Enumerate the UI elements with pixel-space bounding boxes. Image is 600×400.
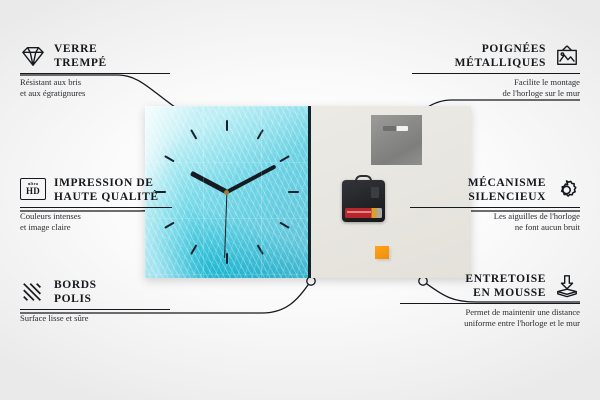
feature-desc: Les aiguilles de l'horloge ne font aucun… (410, 211, 580, 234)
feature-rule (20, 207, 172, 208)
clock-tick (164, 155, 227, 193)
infographic-canvas: VERRE TREMPÉ Résistant aux bris et aux é… (0, 0, 600, 400)
press-foam-icon (554, 274, 580, 298)
feature-title: ENTRETOISE EN MOUSSE (465, 272, 546, 300)
feature-verre-trempe: VERRE TREMPÉ Résistant aux bris et aux é… (20, 42, 170, 100)
feature-title: BORDS POLIS (54, 278, 97, 306)
feature-desc: Couleurs intenses et image claire (20, 211, 172, 234)
picture-frame-icon (554, 44, 580, 68)
foam-spacer (375, 246, 389, 259)
clock-second-hand (224, 192, 228, 258)
feature-title: POIGNÉES MÉTALLIQUES (455, 42, 546, 70)
mechanism-hook (355, 175, 372, 183)
hanger-slot (383, 126, 408, 131)
leader-dot-bords-polis (307, 277, 315, 285)
clock-tick (226, 155, 289, 193)
aa-battery (345, 208, 382, 218)
feature-rule (412, 73, 580, 74)
feature-rule (400, 303, 580, 304)
clock-tick (227, 191, 299, 193)
feature-rule (20, 309, 170, 310)
clock-tick (190, 129, 228, 192)
feature-poignees-metalliques: POIGNÉES MÉTALLIQUES Facilite le montage… (412, 42, 580, 100)
feature-rule (410, 207, 580, 208)
feature-desc: Facilite le montage de l'horloge sur le … (412, 77, 580, 100)
ultra-hd-icon-bottom: HD (26, 187, 40, 196)
clock-hour-hand (190, 171, 227, 194)
feature-title: VERRE TREMPÉ (54, 42, 107, 70)
polished-edge-icon (20, 280, 46, 304)
feature-desc: Résistant aux bris et aux égratignures (20, 77, 170, 100)
feature-rule (20, 73, 170, 74)
clock-center-pin (224, 190, 229, 195)
clock-tick (226, 120, 228, 192)
metal-hanger-plate (371, 115, 422, 165)
clock-tick (226, 129, 264, 192)
gear-icon (554, 178, 580, 202)
clock-tick (226, 192, 228, 264)
ultra-hd-icon: ultra HD (20, 178, 46, 202)
feature-impression-haute-qualite: ultra HD IMPRESSION DE HAUTE QUALITÉ Cou… (20, 176, 172, 234)
clock-tick (226, 191, 289, 229)
clock-tick (226, 192, 264, 255)
feature-title: MÉCANISME SILENCIEUX (468, 176, 546, 204)
feature-bords-polis: BORDS POLIS Surface lisse et sûre (20, 278, 170, 324)
feature-desc: Surface lisse et sûre (20, 313, 170, 324)
diamond-icon (20, 44, 46, 68)
clock-minute-hand (226, 164, 276, 193)
feature-mecanisme-silencieux: MÉCANISME SILENCIEUX Les aiguilles de l'… (410, 176, 580, 234)
feature-title: IMPRESSION DE HAUTE QUALITÉ (54, 176, 159, 204)
feature-entretoise-en-mousse: ENTRETOISE EN MOUSSE Permet de maintenir… (400, 272, 580, 330)
quartz-movement-box (342, 180, 385, 222)
mechanism-knob (371, 187, 379, 198)
clock-tick (190, 192, 228, 255)
clock-tick (164, 191, 227, 229)
feature-desc: Permet de maintenir une distance uniform… (400, 307, 580, 330)
